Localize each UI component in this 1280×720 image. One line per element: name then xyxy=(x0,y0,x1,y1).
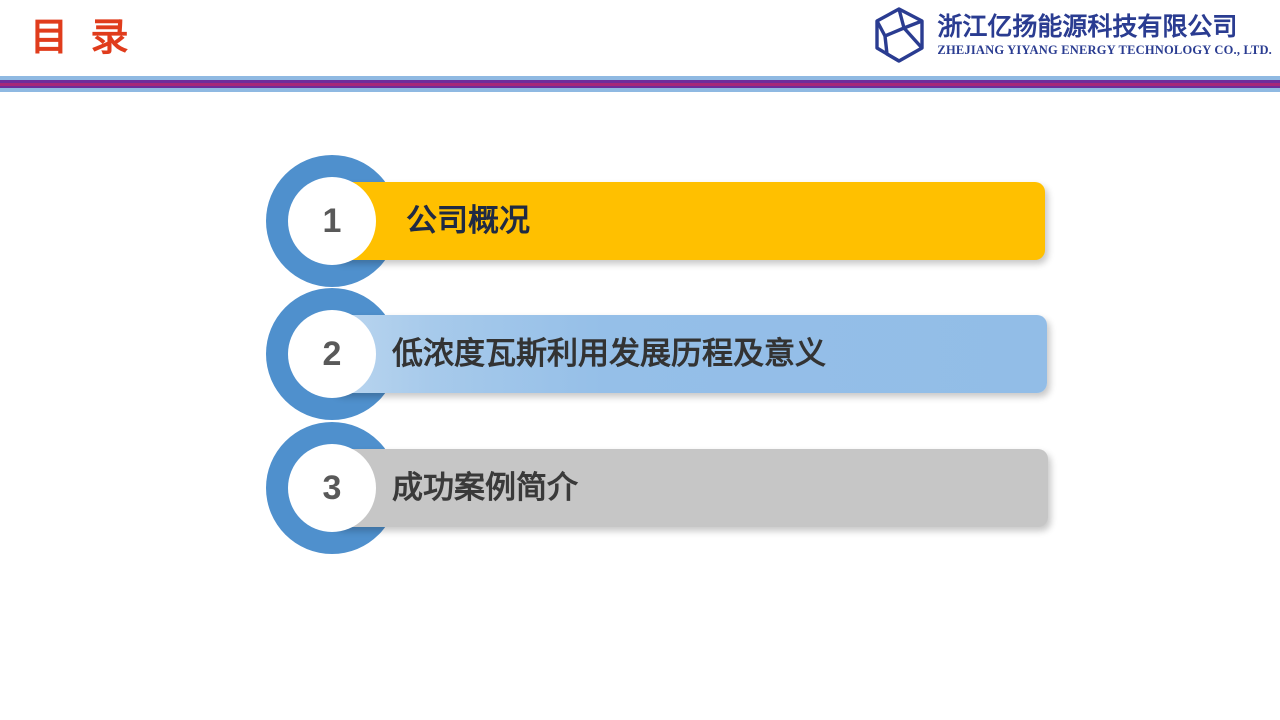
agenda-item-1[interactable]: 1 公司概况 xyxy=(0,155,1280,289)
agenda-label-1: 公司概况 xyxy=(406,182,530,260)
header-divider xyxy=(0,76,1280,92)
agenda-label-2: 低浓度瓦斯利用发展历程及意义 xyxy=(392,315,826,393)
logo-text: 浙江亿扬能源科技有限公司 ZHEJIANG YIYANG ENERGY TECH… xyxy=(937,12,1272,59)
agenda-label-3: 成功案例简介 xyxy=(392,449,578,527)
agenda-number-disc-2: 2 xyxy=(288,310,376,398)
agenda-number-3: 3 xyxy=(323,471,342,505)
agenda-item-2[interactable]: 2 低浓度瓦斯利用发展历程及意义 xyxy=(0,288,1280,422)
hexagon-cube-logo-icon xyxy=(871,6,927,64)
agenda-item-3[interactable]: 3 成功案例简介 xyxy=(0,422,1280,556)
agenda-number-disc-1: 1 xyxy=(288,177,376,265)
agenda-list: 1 公司概况 2 低浓度瓦斯利用发展历程及意义 3 成功案例简介 xyxy=(0,92,1280,720)
page-title: 目 录 xyxy=(30,14,135,62)
agenda-number-2: 2 xyxy=(323,337,342,371)
divider-band-magenta xyxy=(0,83,1280,86)
agenda-number-1: 1 xyxy=(323,204,342,238)
slide-header: 目 录 浙江亿扬能源科技有限公司 ZHEJIANG YIYANG ENERGY … xyxy=(0,0,1280,92)
agenda-number-disc-3: 3 xyxy=(288,444,376,532)
company-logo: 浙江亿扬能源科技有限公司 ZHEJIANG YIYANG ENERGY TECH… xyxy=(871,6,1272,64)
logo-company-name-en: ZHEJIANG YIYANG ENERGY TECHNOLOGY CO., L… xyxy=(937,42,1272,59)
logo-company-name-cn: 浙江亿扬能源科技有限公司 xyxy=(937,12,1272,42)
